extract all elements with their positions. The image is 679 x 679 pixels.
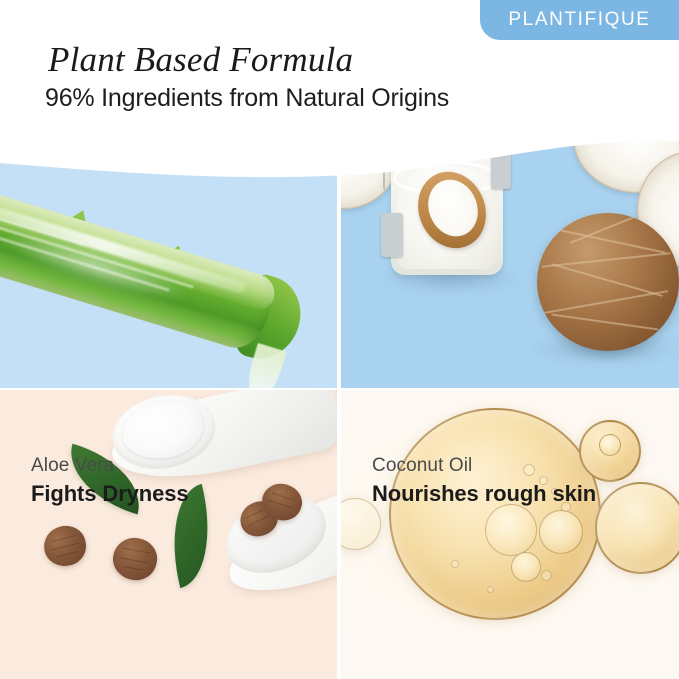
label-coconut-oil: Coconut Oil Nourishes rough skin <box>372 454 596 508</box>
aloe-leaf-image <box>0 146 304 388</box>
jar-clip <box>491 149 511 189</box>
product-infographic: Aloe Vera Fights Dryness Coconut Oil Nou… <box>0 0 679 679</box>
oil-bubble-medium <box>595 482 679 574</box>
oil-bubble-inner <box>539 510 583 554</box>
whole-coconut <box>537 213 679 351</box>
shea-nut <box>110 534 161 583</box>
panel-coconut-oil[interactable] <box>341 135 679 388</box>
oil-bubble-inner <box>485 504 537 556</box>
ingredient-name: Coconut Oil <box>372 454 596 478</box>
oil-bubble-inner <box>599 434 621 456</box>
brand-name: PLANTIFIQUE <box>508 9 650 31</box>
page-title: Plant Based Formula <box>48 40 353 80</box>
jar-clip <box>381 213 403 257</box>
wooden-spoon-handle <box>426 135 542 142</box>
shea-butter-image <box>0 390 337 679</box>
ingredient-grid: Aloe Vera Fights Dryness Coconut Oil Nou… <box>0 135 679 679</box>
ingredient-name: Aloe Vera <box>31 454 189 478</box>
ingredient-benefit: Nourishes rough skin <box>372 480 596 509</box>
vitamin-e-oil-image <box>341 390 679 679</box>
panel-shea-butter[interactable] <box>0 390 337 679</box>
brand-badge: PLANTIFIQUE <box>480 0 679 40</box>
label-aloe-vera: Aloe Vera Fights Dryness <box>31 454 189 508</box>
oil-bubble-large <box>389 408 601 620</box>
page-subtitle: 96% Ingredients from Natural Origins <box>45 84 449 113</box>
panel-aloe-vera[interactable] <box>0 135 337 388</box>
oil-bubble-inner <box>511 552 541 582</box>
coconut-oil-image <box>341 135 679 388</box>
shea-nut <box>40 522 90 571</box>
panel-vitamin-e[interactable] <box>341 390 679 679</box>
ingredient-benefit: Fights Dryness <box>31 480 189 509</box>
